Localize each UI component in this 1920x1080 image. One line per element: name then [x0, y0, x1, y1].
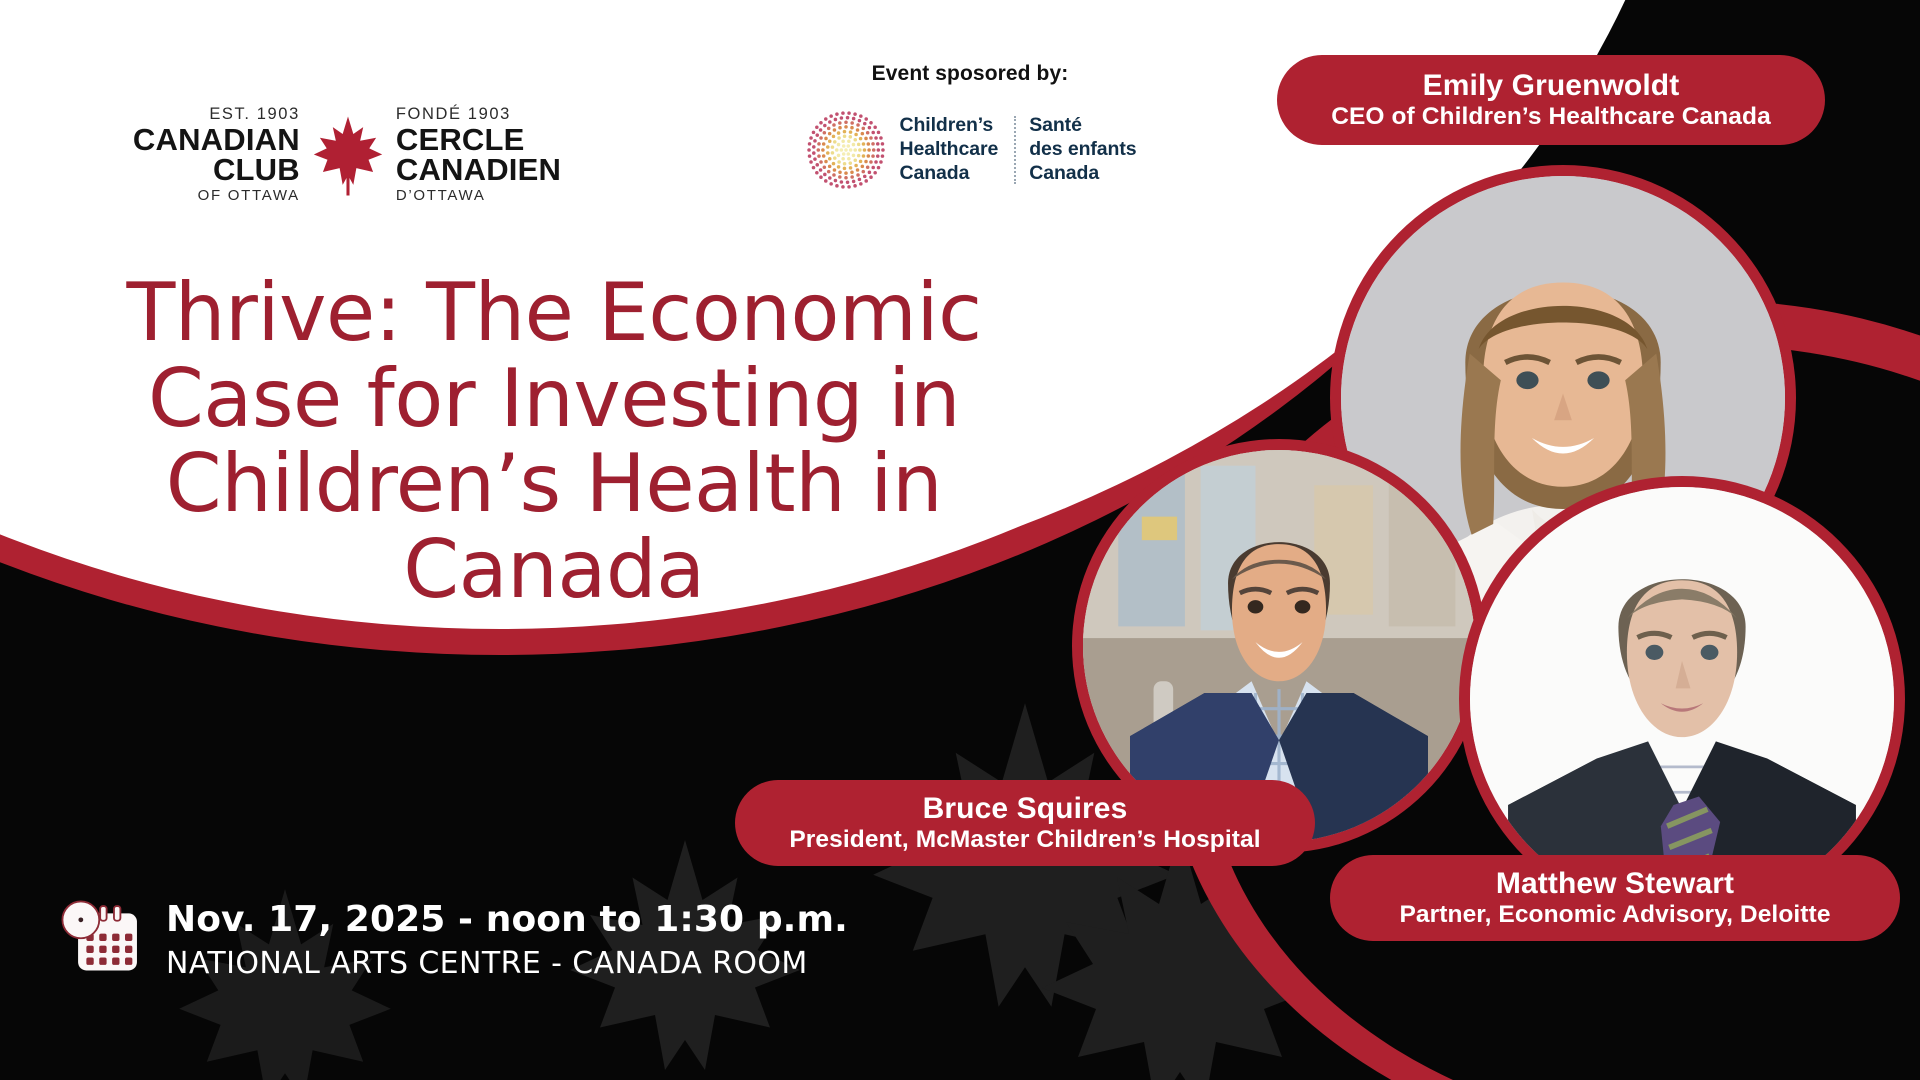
event-poster: EST. 1903 CANADIAN CLUB OF OTTAWA FONDÉ …	[0, 0, 1920, 1080]
sponsor-en-line-1: Children’s	[900, 114, 999, 138]
sponsor-en-line-3: Canada	[900, 162, 999, 186]
sponsor-section: Event sposored by: Children’s Healthcare…	[760, 62, 1180, 192]
calendar-clock-icon	[56, 895, 148, 987]
logo-line3-en: OF OTTAWA	[198, 185, 300, 208]
event-title: Thrive: The Economic Case for Investing …	[74, 270, 1034, 612]
speaker-role-emily: CEO of Children’s Healthcare Canada	[1307, 103, 1795, 130]
logo-line2-fr: CANADIEN	[396, 155, 561, 185]
speaker-badge-bruce: Bruce Squires President, McMaster Childr…	[735, 780, 1315, 866]
canadian-club-logo: EST. 1903 CANADIAN CLUB OF OTTAWA FONDÉ …	[112, 100, 582, 212]
speaker-badge-matthew: Matthew Stewart Partner, Economic Adviso…	[1330, 855, 1900, 941]
event-date-time: Nov. 17, 2025 - noon to 1:30 p.m.	[166, 899, 848, 941]
event-datetime-block: Nov. 17, 2025 - noon to 1:30 p.m. NATION…	[56, 895, 848, 987]
sponsor-fr-line-3: Canada	[1029, 162, 1136, 186]
concentric-dots-icon	[804, 108, 888, 192]
speaker-name-emily: Emily Gruenwoldt	[1307, 69, 1795, 103]
children-healthcare-canada-logo: Children’s Healthcare Canada Santé des e…	[760, 108, 1180, 192]
sponsor-fr-line-1: Santé	[1029, 114, 1136, 138]
headshot-matthew-stewart	[1470, 487, 1894, 911]
sponsor-fr-line-2: des enfants	[1029, 138, 1136, 162]
sponsor-label: Event sposored by:	[760, 62, 1180, 86]
speaker-role-matthew: Partner, Economic Advisory, Deloitte	[1360, 901, 1870, 928]
maple-leaf-icon	[310, 114, 386, 198]
speaker-role-bruce: President, McMaster Children’s Hospital	[765, 826, 1285, 853]
sponsor-name-fr: Santé des enfants Canada	[1029, 114, 1136, 185]
sponsor-divider	[1014, 116, 1016, 183]
logo-english-block: EST. 1903 CANADIAN CLUB OF OTTAWA	[133, 104, 300, 207]
logo-french-block: FONDÉ 1903 CERCLE CANADIEN D’OTTAWA	[396, 104, 561, 207]
speaker-name-bruce: Bruce Squires	[765, 792, 1285, 826]
sponsor-en-line-2: Healthcare	[900, 138, 999, 162]
speaker-badge-emily: Emily Gruenwoldt CEO of Children’s Healt…	[1277, 55, 1825, 145]
logo-line1-fr: CERCLE	[396, 125, 525, 155]
speaker-photo-matthew	[1470, 487, 1894, 911]
logo-line3-fr: D’OTTAWA	[396, 185, 486, 208]
sponsor-name-en: Children’s Healthcare Canada	[900, 114, 999, 185]
event-venue: NATIONAL ARTS CENTRE - CANADA ROOM	[166, 945, 848, 983]
speaker-name-matthew: Matthew Stewart	[1360, 867, 1870, 901]
logo-line2-en: CLUB	[213, 155, 300, 185]
logo-line1-en: CANADIAN	[133, 125, 300, 155]
